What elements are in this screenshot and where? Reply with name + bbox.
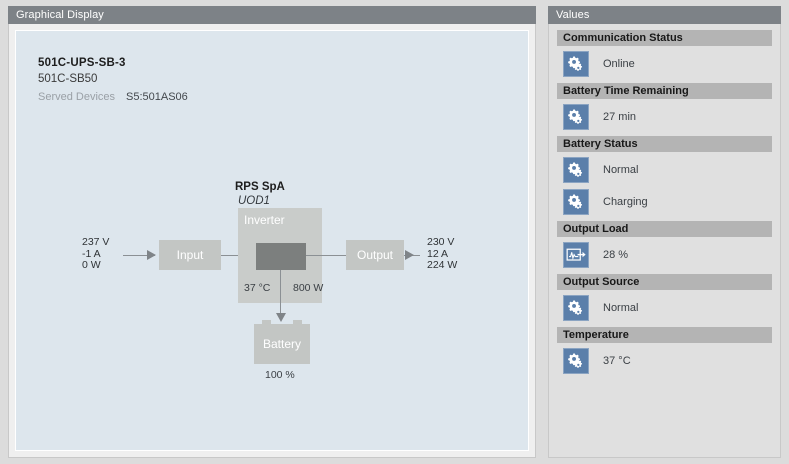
value-text: 27 min bbox=[603, 111, 636, 123]
output-power: 224 W bbox=[427, 260, 457, 272]
input-power: 0 W bbox=[82, 260, 109, 272]
value-row[interactable]: Normal bbox=[557, 154, 772, 186]
application-window: Graphical Display 501C-UPS-SB-3 501C-SB5… bbox=[0, 0, 789, 464]
values-section-header: Temperature bbox=[557, 327, 772, 343]
graphical-display-body: 501C-UPS-SB-3 501C-SB50 Served Devices S… bbox=[8, 24, 536, 458]
battery-label: Battery bbox=[263, 337, 301, 351]
value-row[interactable]: 27 min bbox=[557, 101, 772, 133]
arrow-out-of-output-icon bbox=[405, 250, 414, 260]
value-row[interactable]: Charging bbox=[557, 186, 772, 218]
value-row[interactable]: Normal bbox=[557, 292, 772, 324]
served-devices-label: Served Devices bbox=[38, 91, 115, 103]
input-block[interactable]: Input bbox=[159, 240, 221, 270]
output-block-label: Output bbox=[357, 248, 393, 262]
served-devices-value[interactable]: S5:501AS06 bbox=[126, 91, 188, 103]
values-panel-body: Communication StatusOnlineBattery Time R… bbox=[548, 24, 781, 458]
arrow-into-battery-icon bbox=[276, 313, 286, 322]
value-row[interactable]: 37 °C bbox=[557, 345, 772, 377]
value-text: Normal bbox=[603, 302, 638, 314]
input-values: 237 V -1 A 0 W bbox=[82, 237, 109, 272]
graphical-display-title: Graphical Display bbox=[8, 6, 536, 24]
value-row[interactable]: Online bbox=[557, 48, 772, 80]
value-text: 28 % bbox=[603, 249, 628, 261]
values-section: Battery Time Remaining27 min bbox=[557, 83, 772, 133]
values-section-header: Battery Status bbox=[557, 136, 772, 152]
arrow-into-input-icon bbox=[147, 250, 156, 260]
battery-terminal-left-icon bbox=[262, 320, 271, 324]
device-name: 501C-UPS-SB-3 bbox=[38, 57, 126, 69]
values-section-header: Communication Status bbox=[557, 30, 772, 46]
value-text: 37 °C bbox=[603, 355, 631, 367]
gears-icon[interactable] bbox=[563, 104, 589, 130]
gears-icon[interactable] bbox=[563, 295, 589, 321]
group-title: RPS SpA bbox=[235, 181, 285, 193]
output-block[interactable]: Output bbox=[346, 240, 404, 270]
battery-percent: 100 % bbox=[265, 369, 295, 381]
load-meter-icon[interactable] bbox=[563, 242, 589, 268]
value-text: Online bbox=[603, 58, 635, 70]
gears-icon[interactable] bbox=[563, 348, 589, 374]
values-panel: Values Communication StatusOnlineBattery… bbox=[548, 6, 781, 458]
gears-icon[interactable] bbox=[563, 157, 589, 183]
graphical-display-panel: Graphical Display 501C-UPS-SB-3 501C-SB5… bbox=[8, 6, 536, 458]
values-section: Battery StatusNormalCharging bbox=[557, 136, 772, 218]
value-row[interactable]: 28 % bbox=[557, 239, 772, 271]
value-text: Charging bbox=[603, 196, 648, 208]
values-section: Output SourceNormal bbox=[557, 274, 772, 324]
values-panel-title: Values bbox=[548, 6, 781, 24]
inverter-temperature: 37 °C bbox=[244, 282, 270, 294]
diagram-canvas[interactable]: 501C-UPS-SB-3 501C-SB50 Served Devices S… bbox=[15, 30, 529, 451]
output-voltage: 230 V bbox=[427, 237, 457, 249]
values-sections-container: Communication StatusOnlineBattery Time R… bbox=[557, 30, 772, 377]
values-section-header: Battery Time Remaining bbox=[557, 83, 772, 99]
wire-inverter-to-output bbox=[306, 255, 346, 256]
input-block-label: Input bbox=[177, 248, 204, 262]
gears-icon[interactable] bbox=[563, 51, 589, 77]
inverter-power: 800 W bbox=[293, 282, 323, 294]
battery-block[interactable]: Battery bbox=[254, 324, 310, 364]
values-section: Communication StatusOnline bbox=[557, 30, 772, 80]
values-section: Temperature37 °C bbox=[557, 327, 772, 377]
input-voltage: 237 V bbox=[82, 237, 109, 249]
values-section: Output Load28 % bbox=[557, 221, 772, 271]
output-values: 230 V 12 A 224 W bbox=[427, 237, 457, 272]
group-subtitle: UOD1 bbox=[238, 195, 270, 207]
gears-icon[interactable] bbox=[563, 189, 589, 215]
value-text: Normal bbox=[603, 164, 638, 176]
values-section-header: Output Source bbox=[557, 274, 772, 290]
inverter-core bbox=[256, 243, 306, 270]
device-subname: 501C-SB50 bbox=[38, 73, 97, 85]
battery-terminal-right-icon bbox=[293, 320, 302, 324]
inverter-label: Inverter bbox=[244, 213, 285, 227]
values-section-header: Output Load bbox=[557, 221, 772, 237]
